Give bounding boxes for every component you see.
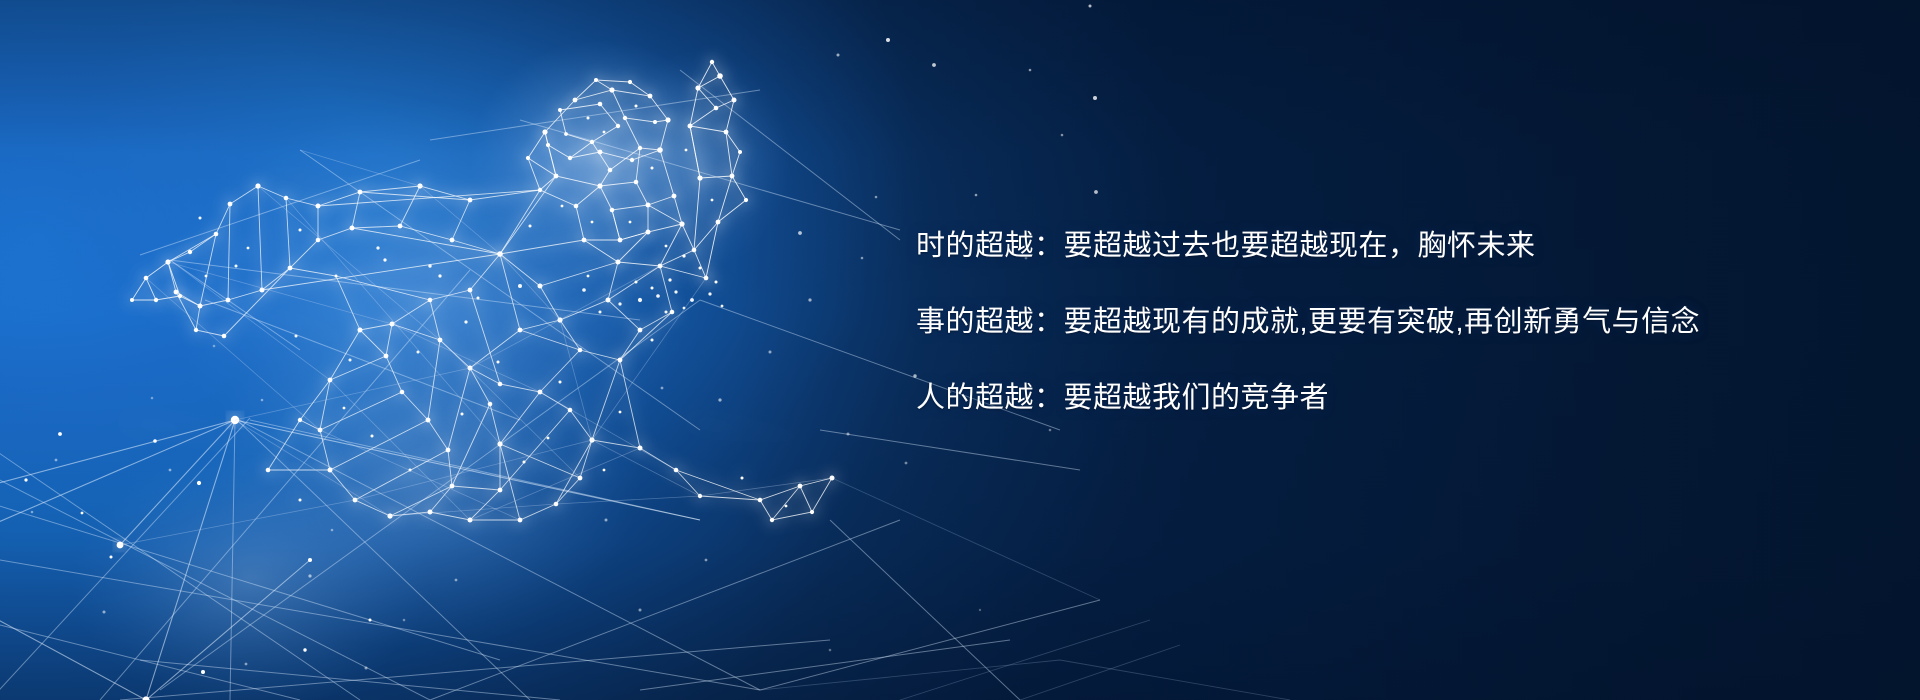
tagline-matter: 事的超越：要超越现有的成就,更要有突破,再创新勇气与信念 <box>916 308 1816 337</box>
runner-trailing-foot-nodes <box>741 476 835 523</box>
tagline-people: 人的超越：要超越我们的竞争者 <box>916 384 1816 413</box>
lower-right-faint-web <box>760 478 1290 700</box>
tagline-time: 时的超越：要超越过去也要超越现在，胸怀未来 <box>916 232 1816 261</box>
banner-stage: 时的超越：要超越过去也要超越现在，胸怀未来 事的超越：要超越现有的成就,更要有突… <box>0 0 1920 700</box>
tagline-block: 时的超越：要超越过去也要超越现在，胸怀未来 事的超越：要超越现有的成就,更要有突… <box>916 232 1816 413</box>
